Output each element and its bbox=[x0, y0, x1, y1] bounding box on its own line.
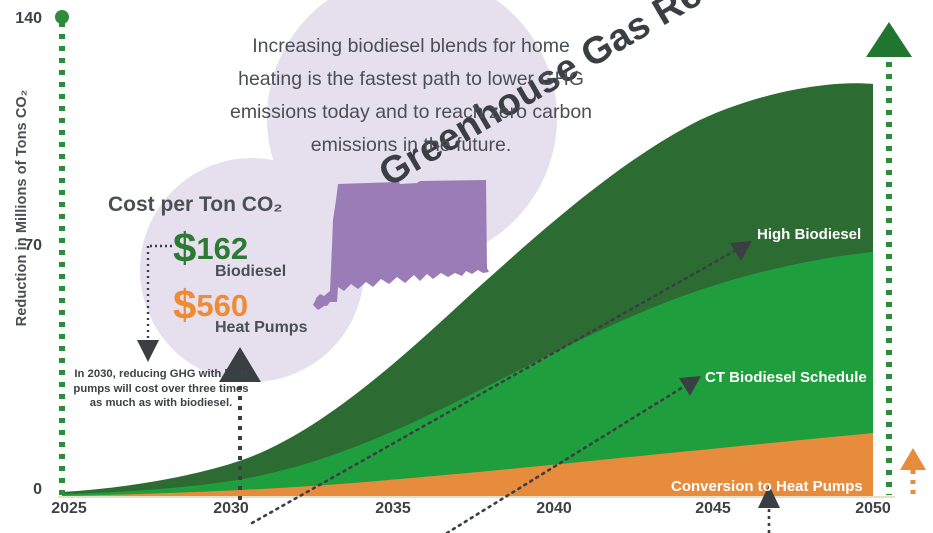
cost-panel-title: Cost per Ton CO₂ bbox=[108, 193, 283, 217]
x-axis-tick-2030: 2030 bbox=[196, 500, 266, 518]
band-label-conversion-to-heat-pumps: Conversion to Heat Pumps bbox=[671, 478, 863, 495]
y-axis-tick-70: 70 bbox=[0, 237, 42, 255]
infographic-canvas: Reduction in Millions of Tons CO₂ 140 70… bbox=[0, 0, 933, 533]
high-biodiesel-leader-line bbox=[252, 249, 738, 523]
cost-heat-pumps-amount: 560 bbox=[196, 288, 248, 323]
ct-schedule-leader-arrow bbox=[679, 376, 701, 396]
green-up-arrow bbox=[866, 22, 912, 57]
cost-biodiesel-amount: 162 bbox=[196, 231, 248, 266]
y-axis-top-dot bbox=[55, 10, 69, 24]
band-label-ct-biodiesel-schedule: CT Biodiesel Schedule bbox=[705, 369, 867, 386]
gray-down-arrow bbox=[137, 340, 159, 362]
y-axis-title: Reduction in Millions of Tons CO₂ bbox=[14, 18, 30, 398]
cost-footnote: In 2030, reducing GHG with heat pumps wi… bbox=[72, 367, 250, 411]
x-axis-tick-2035: 2035 bbox=[358, 500, 428, 518]
cost-biodiesel-label: Biodiesel bbox=[215, 263, 286, 281]
y-axis-tick-0: 0 bbox=[0, 481, 42, 499]
cost-heat-pumps-label: Heat Pumps bbox=[215, 319, 307, 337]
band-label-high-biodiesel: High Biodiesel bbox=[757, 226, 861, 243]
x-axis-tick-2050: 2050 bbox=[838, 500, 908, 518]
connecticut-map-shape bbox=[313, 180, 489, 310]
callout-bubble-text: Increasing biodiesel blends for home hea… bbox=[218, 30, 604, 162]
cost-biodiesel-currency: $ bbox=[173, 224, 196, 271]
x-axis-tick-2040: 2040 bbox=[519, 500, 589, 518]
high-biodiesel-leader-arrow bbox=[730, 241, 752, 261]
y-axis-tick-140: 140 bbox=[0, 10, 42, 28]
x-axis-tick-2025: 2025 bbox=[34, 500, 104, 518]
cost-heat-pumps-currency: $ bbox=[173, 281, 196, 328]
x-axis-tick-2045: 2045 bbox=[678, 500, 748, 518]
orange-up-arrow bbox=[900, 448, 926, 470]
